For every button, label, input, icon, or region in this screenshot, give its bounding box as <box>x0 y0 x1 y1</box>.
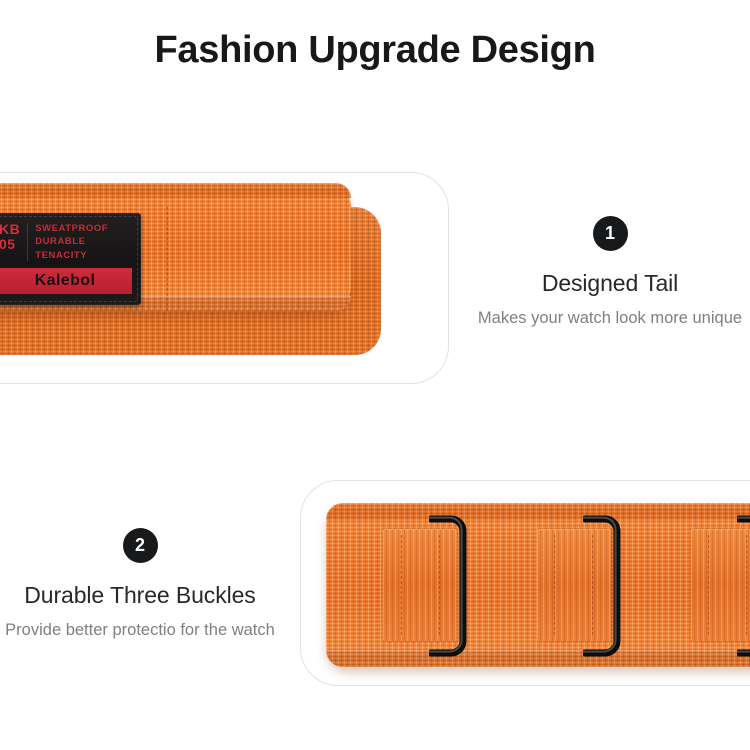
feature-description-2: Provide better protectio for the watch <box>0 619 280 642</box>
infographic-canvas: Fashion Upgrade Design KB 05 <box>0 0 750 750</box>
patch-brand-name: Kalebol <box>35 272 96 290</box>
photo-card-three-buckles <box>300 480 750 686</box>
feature-number-badge-2: 2 <box>123 528 158 563</box>
buckle-tongue-stitch-2a <box>554 535 555 635</box>
patch-divider <box>27 223 28 261</box>
feature-heading-1: Designed Tail <box>470 269 750 298</box>
feature-block-three-buckles: 2 Durable Three Buckles Provide better p… <box>0 528 280 642</box>
buckle-ring-icon-3 <box>737 511 750 661</box>
buckle-ring-icon-2 <box>583 511 623 661</box>
strap-stitch-line <box>167 207 168 311</box>
buckle-ring-icon-1 <box>429 511 469 661</box>
strap-selvedge-top <box>0 183 351 198</box>
patch-model-code-line1: KB <box>0 222 20 237</box>
patch-claim-1: SWEATPROOF <box>35 222 108 235</box>
feature-description-1: Makes your watch look more unique <box>470 307 750 330</box>
patch-claims-list: SWEATPROOF DURABLE TENACITY <box>35 222 108 262</box>
feature-number-badge-1: 1 <box>593 216 628 251</box>
strap-selvedge-top-2 <box>326 503 750 520</box>
patch-claim-3: TENACITY <box>35 249 108 262</box>
patch-brand-bar: Kalebol <box>0 268 132 294</box>
patch-claim-2: DURABLE <box>35 235 108 248</box>
strap-selvedge-bottom-2 <box>326 650 750 667</box>
page-title: Fashion Upgrade Design <box>0 28 750 74</box>
photo-card-designed-tail: KB 05 SWEATPROOF DURABLE TENACITY Kalebo… <box>0 172 449 384</box>
brand-label-patch: KB 05 SWEATPROOF DURABLE TENACITY Kalebo… <box>0 213 141 305</box>
patch-model-code-line2: 05 <box>0 237 20 252</box>
feature-block-designed-tail: 1 Designed Tail Makes your watch look mo… <box>470 216 750 330</box>
buckle-tongue-stitch-1a <box>401 535 402 635</box>
patch-top-row: KB 05 SWEATPROOF DURABLE TENACITY <box>0 222 108 262</box>
buckle-tongue-stitch-3a <box>708 535 709 635</box>
feature-heading-2: Durable Three Buckles <box>0 581 280 610</box>
patch-model-code: KB 05 <box>0 222 20 252</box>
